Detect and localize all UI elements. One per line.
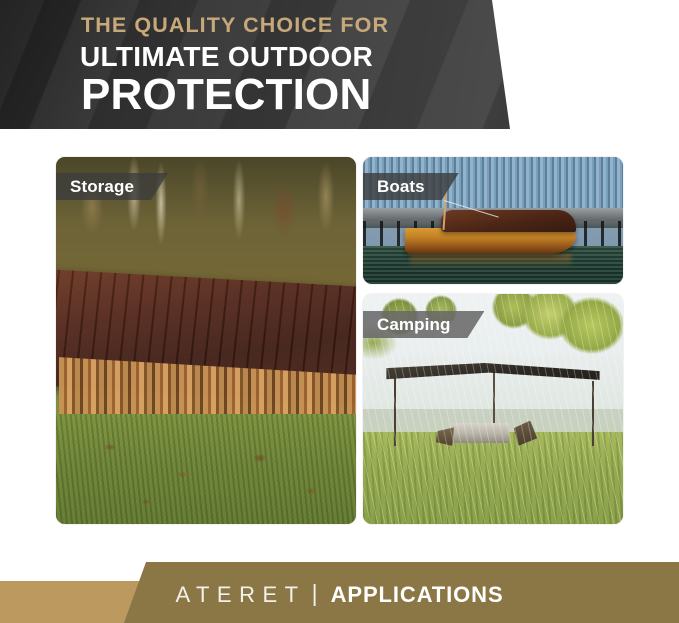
storage-photo bbox=[56, 157, 356, 524]
footer-brand-name: ATERET bbox=[175, 584, 305, 606]
storage-grass-foreground bbox=[56, 414, 356, 524]
panel-label-camping: Camping bbox=[363, 311, 484, 338]
footer-text-group: ATERET | APPLICATIONS bbox=[0, 562, 679, 623]
camping-pole-right bbox=[592, 381, 594, 445]
panel-boats: Boats bbox=[363, 157, 623, 284]
header-headline-line2: PROTECTION bbox=[81, 73, 371, 117]
panel-storage: Storage bbox=[56, 157, 356, 524]
header-banner: THE QUALITY CHOICE FOR ULTIMATE OUTDOOR … bbox=[0, 0, 679, 129]
application-panel-grid: Storage Boats bbox=[56, 157, 623, 524]
panel-label-storage: Storage bbox=[56, 173, 168, 200]
header-text-group: THE QUALITY CHOICE FOR ULTIMATE OUTDOOR … bbox=[0, 0, 679, 129]
header-headline-line1: ULTIMATE OUTDOOR bbox=[80, 43, 373, 71]
footer-section-title: APPLICATIONS bbox=[331, 584, 504, 606]
boats-brown-cover bbox=[441, 210, 576, 232]
boats-wooden-hull bbox=[405, 228, 577, 253]
camping-lawn bbox=[363, 432, 623, 524]
footer-separator: | bbox=[312, 582, 318, 605]
boats-water-reflection bbox=[410, 254, 571, 268]
header-eyebrow: THE QUALITY CHOICE FOR bbox=[81, 15, 389, 37]
camping-picnic-table bbox=[451, 423, 508, 444]
panel-camping: Camping bbox=[363, 294, 623, 524]
camping-pole-left bbox=[394, 377, 396, 446]
footer-bar: ATERET | APPLICATIONS bbox=[0, 562, 679, 623]
